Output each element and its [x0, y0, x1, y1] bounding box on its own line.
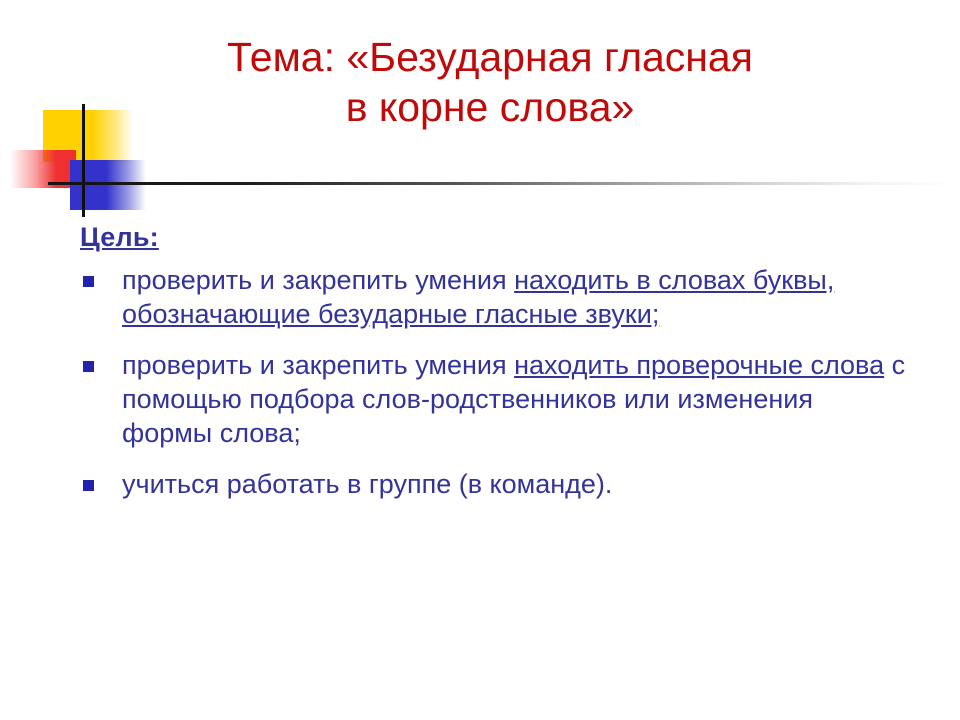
bullet-text-underlined: находить проверочные слова	[514, 350, 884, 380]
list-item: учиться работать в группе (в команде).	[78, 467, 908, 501]
square-bullet-icon	[83, 480, 94, 491]
bullet-text-plain: проверить и закрепить умения	[122, 350, 514, 380]
bullet-text-plain: проверить и закрепить умения	[122, 265, 514, 295]
vertical-rule-icon	[82, 104, 85, 217]
presentation-slide: Тема: «Безударная гласная в корне слова»…	[0, 0, 960, 720]
square-bullet-icon	[83, 276, 94, 287]
horizontal-rule-divider	[48, 182, 958, 185]
list-item: проверить и закрепить умения находить в …	[78, 263, 908, 331]
slide-body: Цель: проверить и закрепить умения наход…	[78, 222, 908, 501]
square-bullet-icon	[83, 361, 94, 372]
list-item: проверить и закрепить умения находить пр…	[78, 348, 908, 450]
goal-list: проверить и закрепить умения находить в …	[78, 263, 908, 501]
bullet-text-plain: учиться работать в группе (в команде).	[122, 469, 612, 499]
goal-heading: Цель:	[80, 222, 159, 253]
decorative-graphic	[0, 95, 300, 220]
